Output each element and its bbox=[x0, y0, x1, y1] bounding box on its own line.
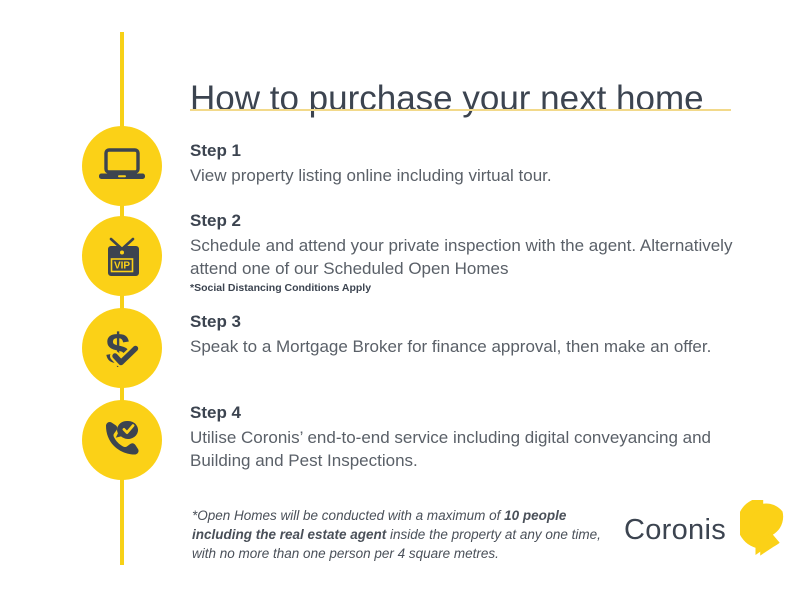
phone-check-icon bbox=[97, 416, 147, 464]
timeline-rail bbox=[120, 32, 124, 565]
footnote-lead: *Open Homes will be conducted with a max… bbox=[192, 508, 504, 523]
step-bullet-2: VIP bbox=[82, 216, 162, 296]
step-heading: Step 1 bbox=[190, 140, 552, 162]
step-block-3: Step 3 Speak to a Mortgage Broker for fi… bbox=[190, 311, 711, 358]
step-bullet-3: $ bbox=[82, 308, 162, 388]
step-block-2: Step 2 Schedule and attend your private … bbox=[190, 210, 735, 296]
step-heading: Step 2 bbox=[190, 210, 735, 232]
step-block-1: Step 1 View property listing online incl… bbox=[190, 140, 552, 187]
coronis-logo: Coronis bbox=[624, 500, 786, 561]
step-body: View property listing online including v… bbox=[190, 164, 552, 187]
footnote: *Open Homes will be conducted with a max… bbox=[192, 506, 612, 563]
step-bullet-4 bbox=[82, 400, 162, 480]
dollar-check-icon: $ bbox=[97, 323, 147, 373]
step-body: Schedule and attend your private inspect… bbox=[190, 234, 735, 280]
step-bullet-1 bbox=[82, 126, 162, 206]
title-underline-rule bbox=[190, 109, 731, 111]
svg-text:VIP: VIP bbox=[114, 260, 130, 271]
logo-wordmark: Coronis bbox=[624, 514, 726, 547]
step-heading: Step 3 bbox=[190, 311, 711, 333]
laptop-icon bbox=[98, 146, 146, 186]
page-title: How to purchase your next home bbox=[190, 79, 704, 119]
coronis-c-pin-icon bbox=[740, 500, 786, 561]
step-body: Speak to a Mortgage Broker for finance a… bbox=[190, 335, 711, 358]
vip-tag-icon: VIP bbox=[99, 231, 145, 281]
step-note: *Social Distancing Conditions Apply bbox=[190, 281, 735, 296]
step-heading: Step 4 bbox=[190, 402, 735, 424]
step-block-4: Step 4 Utilise Coronis’ end-to-end servi… bbox=[190, 402, 735, 472]
step-body: Utilise Coronis’ end-to-end service incl… bbox=[190, 426, 735, 472]
